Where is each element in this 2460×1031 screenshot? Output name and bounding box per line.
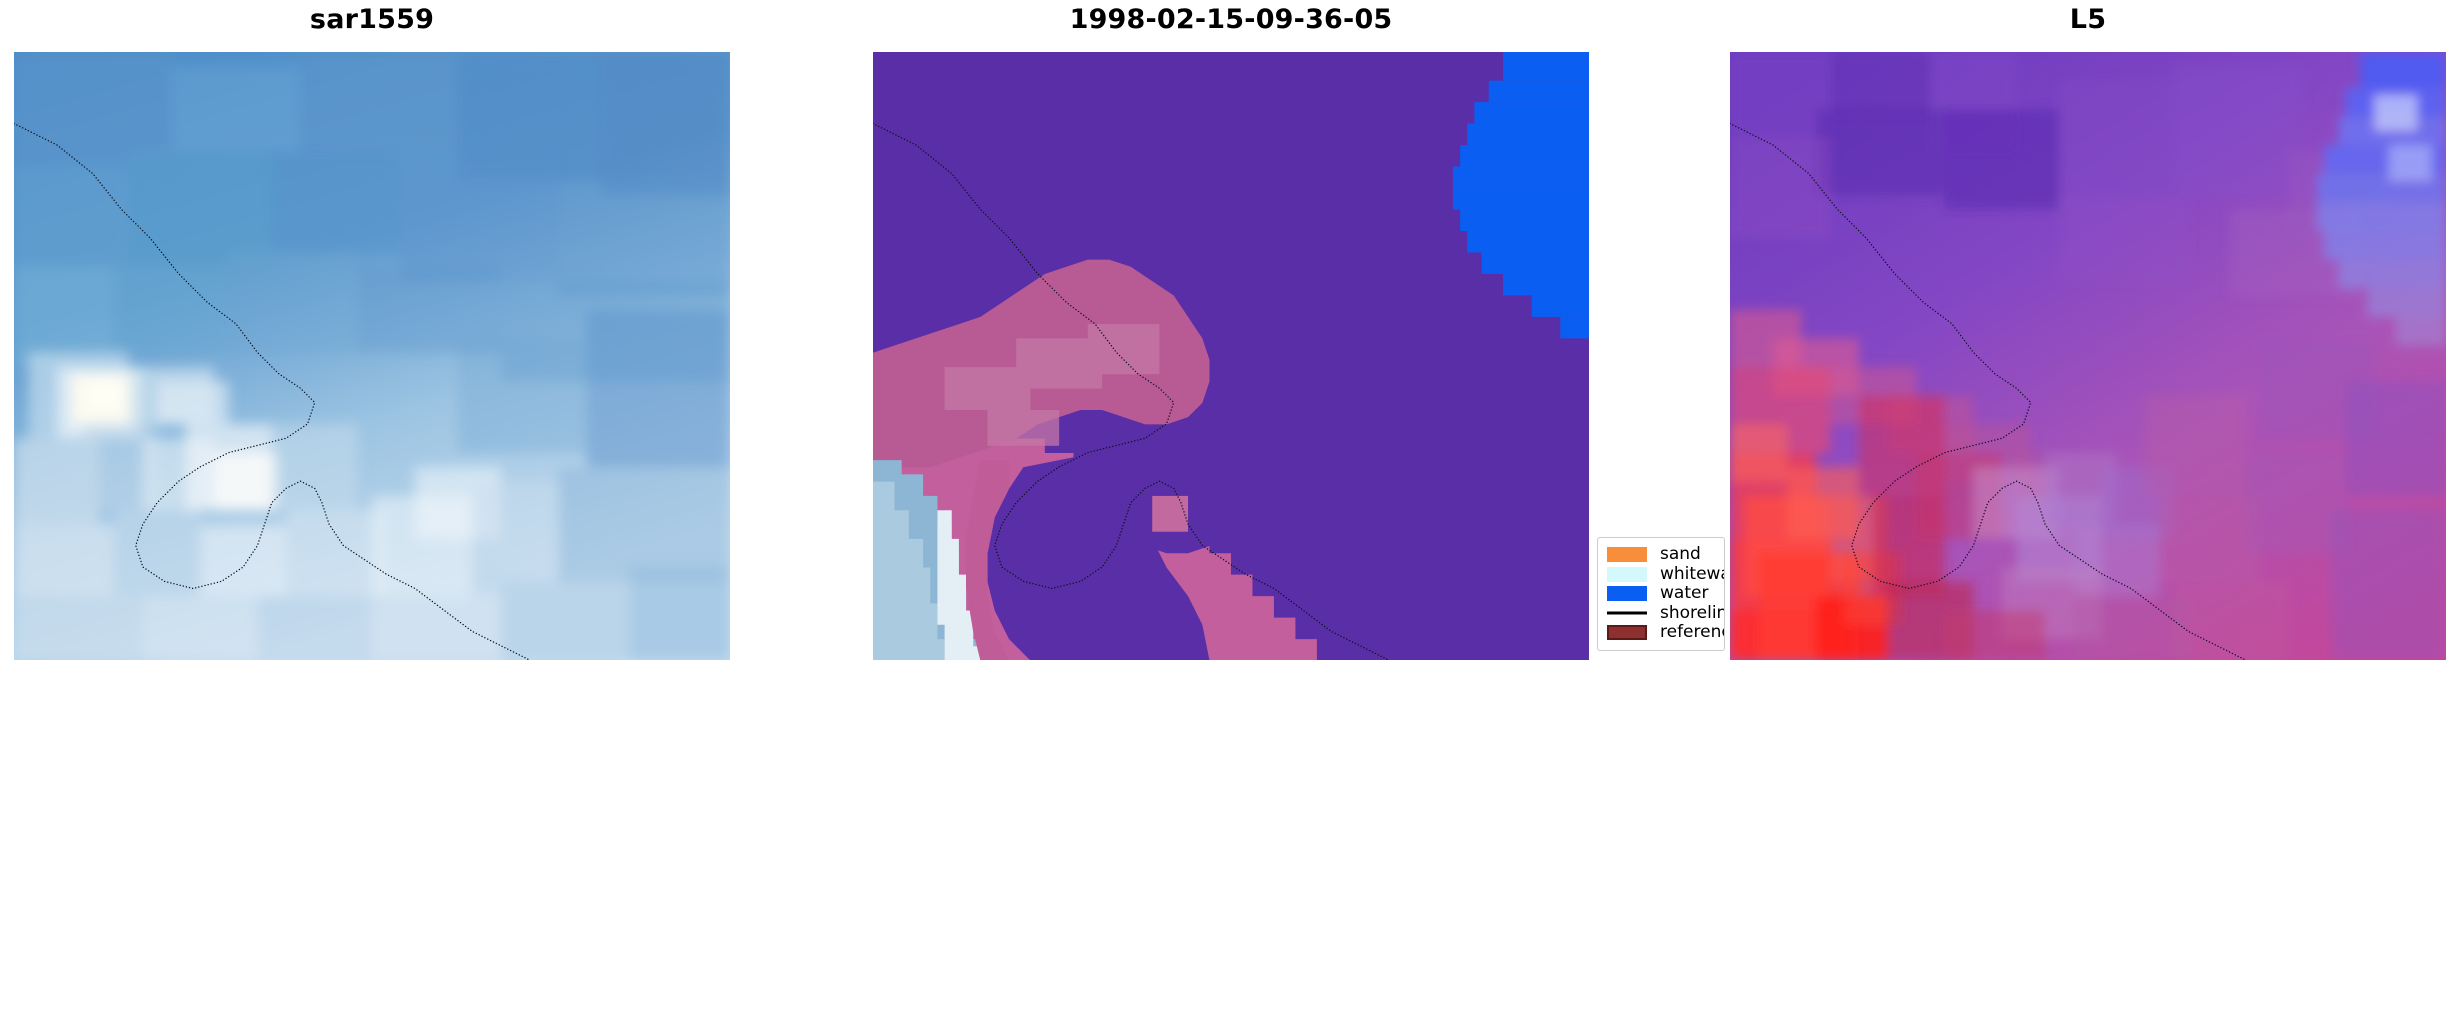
legend-swatch-sand — [1607, 547, 1647, 562]
legend-label-shoreline: shoreline — [1660, 604, 1725, 623]
sar-raster-image — [14, 52, 730, 660]
legend-label-sand: sand — [1660, 545, 1701, 564]
legend-item-sand: sand — [1607, 545, 1716, 565]
panel-l5: L5 — [1730, 0, 2446, 1031]
legend-swatch-whitewater — [1607, 567, 1647, 582]
legend-label-reference-shoreline: reference shoreline — [1660, 623, 1725, 642]
panel-sar-title: sar1559 — [14, 4, 730, 35]
classification-raster — [873, 52, 1589, 660]
legend-label-water: water — [1660, 584, 1708, 603]
legend-item-reference-shoreline: reference shoreline — [1607, 623, 1716, 643]
panel-classification-title: 1998-02-15-09-36-05 — [873, 4, 1589, 35]
legend-item-whitewater: whitewater — [1607, 565, 1716, 585]
figure-canvas: sar1559 — [0, 0, 2460, 1031]
panel-l5-axes — [1730, 52, 2446, 660]
panel-l5-title: L5 — [1730, 4, 2446, 35]
legend-item-water: water — [1607, 584, 1716, 604]
l5-raster-image — [1730, 52, 2446, 660]
legend-label-whitewater: whitewater — [1660, 565, 1725, 584]
class-legend: sand whitewater water shoreline referenc… — [1597, 537, 1725, 651]
panel-classification: 1998-02-15-09-36-05 — [873, 0, 1589, 1031]
legend-swatch-shoreline — [1607, 606, 1647, 621]
panel-classification-axes — [873, 52, 1589, 660]
panel-sar-axes — [14, 52, 730, 660]
legend-swatch-reference-shoreline — [1607, 625, 1647, 640]
panel-sar: sar1559 — [14, 0, 730, 1031]
legend-swatch-water — [1607, 586, 1647, 601]
legend-item-shoreline: shoreline — [1607, 604, 1716, 624]
